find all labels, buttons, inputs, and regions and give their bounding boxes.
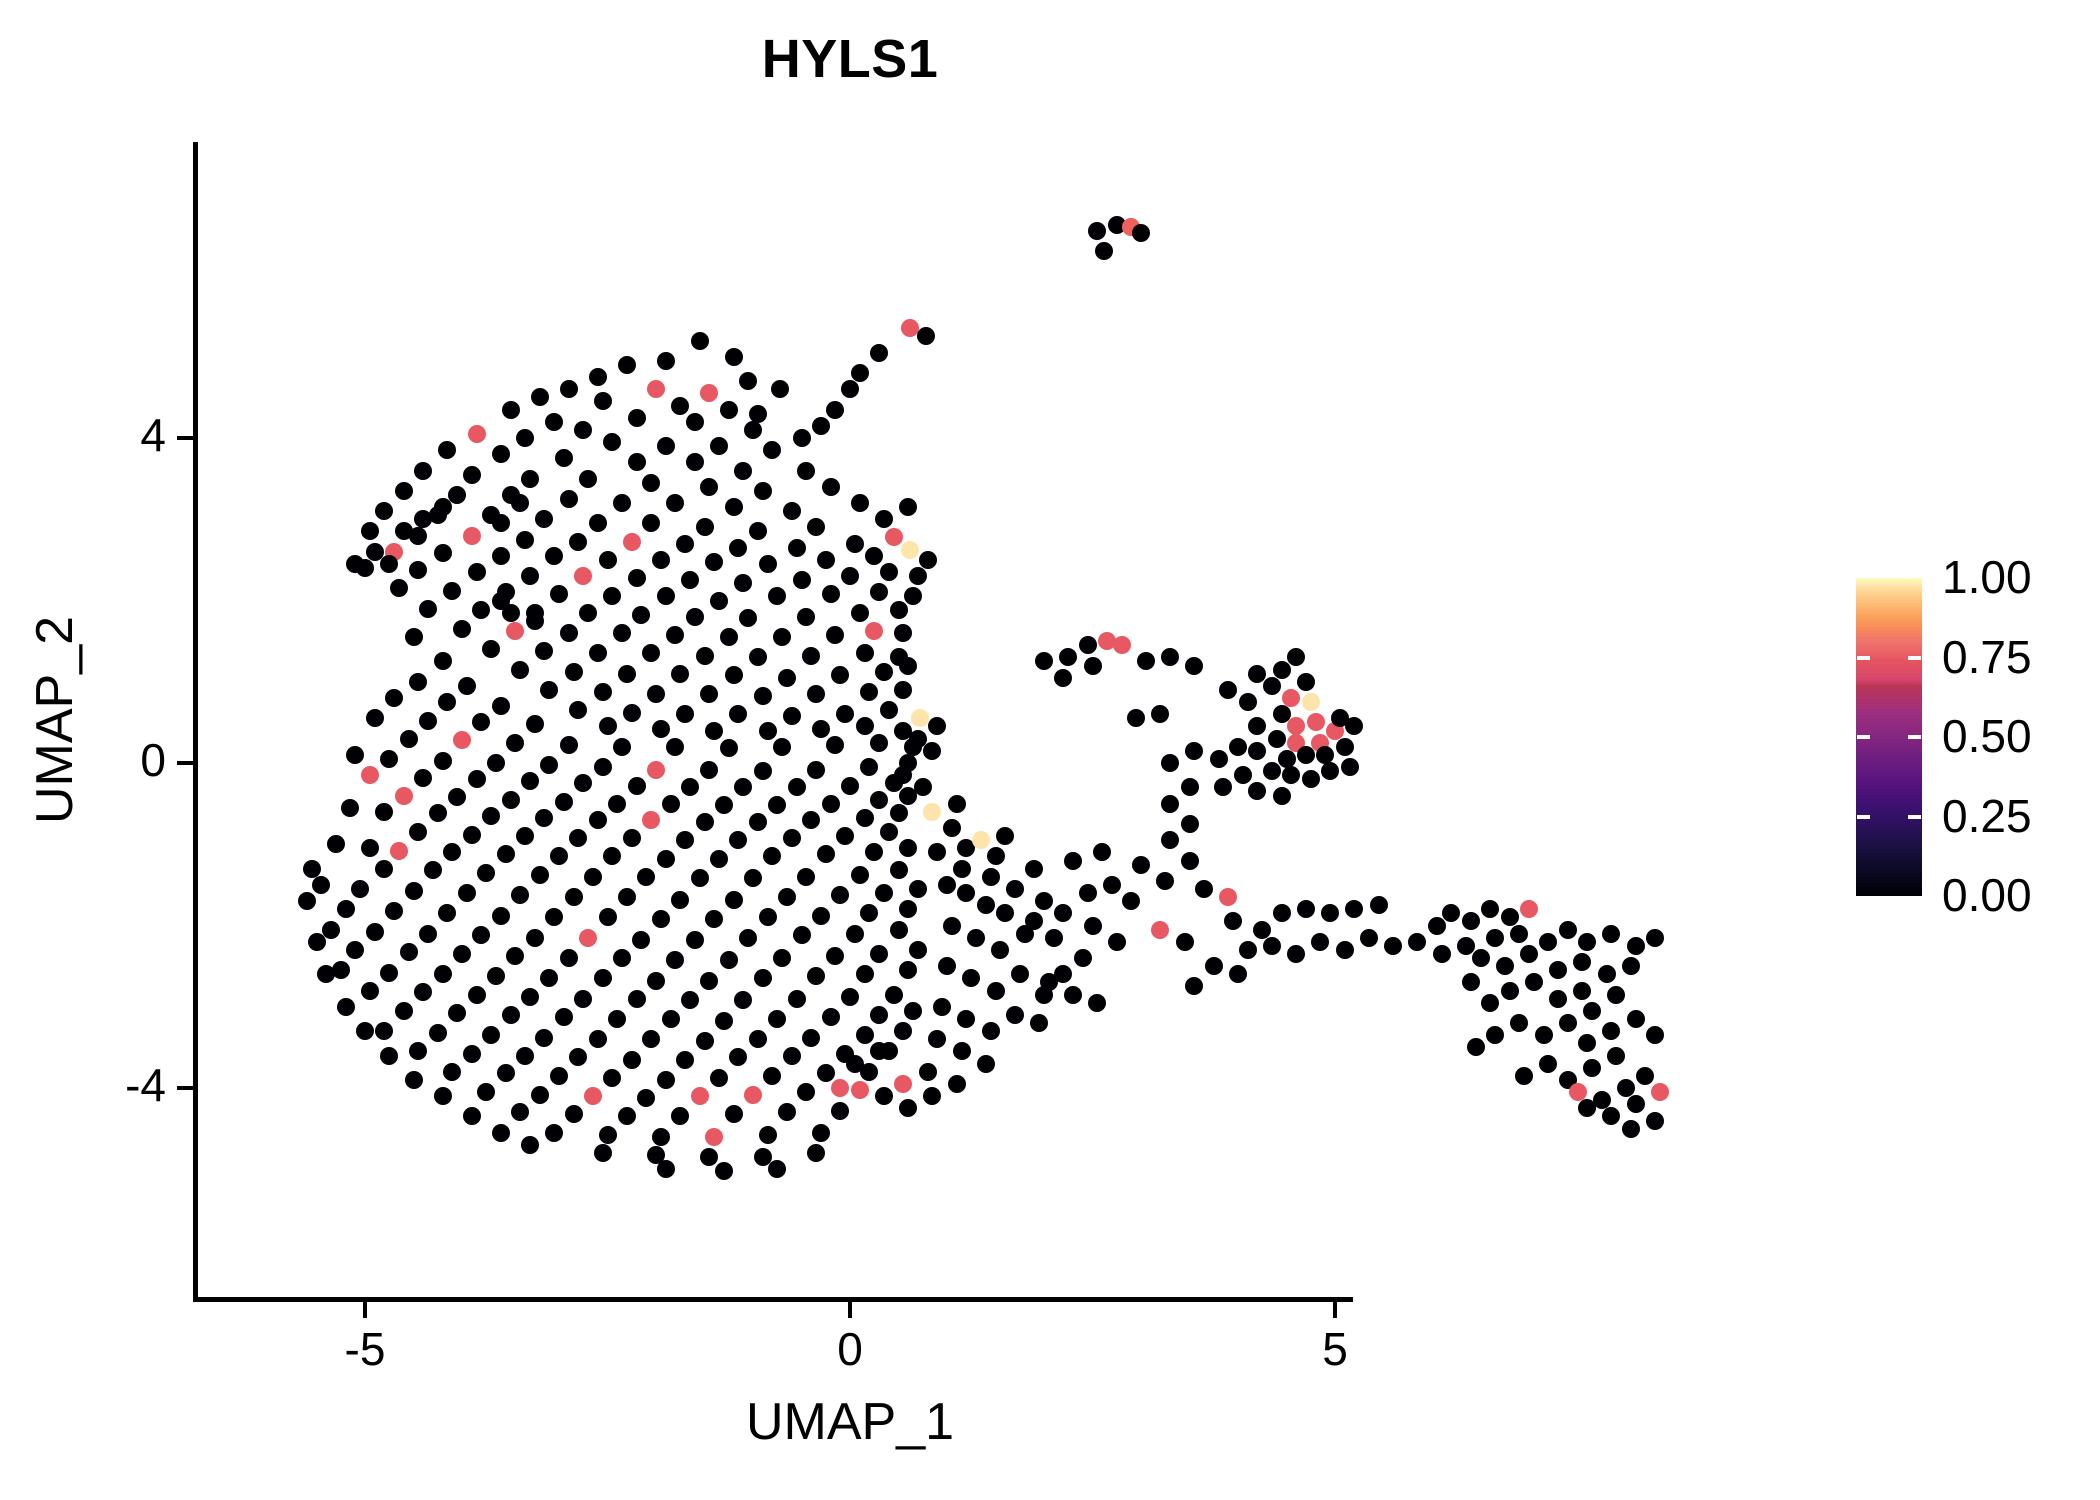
scatter-point: [555, 793, 573, 811]
scatter-point: [749, 813, 767, 831]
scatter-point: [1229, 965, 1247, 983]
scatter-point: [657, 1160, 675, 1178]
scatter-point: [540, 681, 558, 699]
scatter-point: [1282, 689, 1300, 707]
scatter-point: [555, 1008, 573, 1026]
scatter-point: [880, 823, 898, 841]
scatter-point: [647, 380, 665, 398]
scatter-point: [657, 352, 675, 370]
scatter-point: [535, 642, 553, 660]
scatter-point: [613, 949, 631, 967]
scatter-point: [1185, 977, 1203, 995]
scatter-point: [870, 1006, 888, 1024]
scatter-point: [492, 907, 510, 925]
scatter-point: [366, 923, 384, 941]
scatter-point: [468, 986, 486, 1004]
scatter-point: [1297, 900, 1315, 918]
scatter-point: [405, 1071, 423, 1089]
scatter-point: [594, 969, 612, 987]
scatter-point: [1035, 892, 1053, 910]
scatter-point: [526, 929, 544, 947]
scatter-point: [681, 571, 699, 589]
scatter-point: [1321, 762, 1339, 780]
scatter-point: [1578, 1034, 1596, 1052]
scatter-point: [982, 868, 1000, 886]
scatter-point: [720, 739, 738, 757]
scatter-point: [390, 842, 408, 860]
scatter-point: [414, 510, 432, 528]
scatter-point: [911, 709, 929, 727]
scatter-point: [628, 990, 646, 1008]
scatter-point: [637, 1089, 655, 1107]
scatter-point: [511, 494, 529, 512]
scatter-point: [696, 1032, 714, 1050]
scatter-point: [375, 803, 393, 821]
scatter-point: [919, 551, 937, 569]
scatter-point: [826, 947, 844, 965]
scatter-point: [856, 717, 874, 735]
scatter-point: [1622, 957, 1640, 975]
scatter-point: [826, 626, 844, 644]
colorbar-tick-mark: [1908, 815, 1921, 819]
scatter-point: [652, 1128, 670, 1146]
scatter-point: [773, 949, 791, 967]
scatter-point: [953, 1042, 971, 1060]
scatter-point: [841, 380, 859, 398]
scatter-point: [516, 827, 534, 845]
scatter-point: [1273, 904, 1291, 922]
scatter-point: [356, 1022, 374, 1040]
scatter-point: [856, 965, 874, 983]
scatter-point: [565, 888, 583, 906]
scatter-point: [1578, 1099, 1596, 1117]
scatter-point: [860, 683, 878, 701]
scatter-point: [540, 756, 558, 774]
scatter-point: [589, 644, 607, 662]
scatter-point: [516, 429, 534, 447]
scatter-point: [579, 470, 597, 488]
scatter-point: [759, 908, 777, 926]
y-axis-line: [193, 142, 198, 1302]
scatter-point: [535, 510, 553, 528]
scatter-point: [589, 368, 607, 386]
scatter-point: [987, 982, 1005, 1000]
scatter-point: [550, 847, 568, 865]
scatter-point: [1336, 941, 1354, 959]
scatter-point: [1549, 961, 1567, 979]
colorbar-tick-mark: [1857, 735, 1870, 739]
scatter-point: [802, 1029, 820, 1047]
scatter-point: [642, 1030, 660, 1048]
scatter-point: [1006, 880, 1024, 898]
scatter-point: [1093, 843, 1111, 861]
scatter-point: [1122, 892, 1140, 910]
scatter-point: [1336, 738, 1354, 756]
scatter-point: [909, 941, 927, 959]
scatter-point: [400, 943, 418, 961]
scatter-point: [1079, 884, 1097, 902]
scatter-point: [1408, 933, 1426, 951]
scatter-point: [710, 437, 728, 455]
scatter-point: [535, 1029, 553, 1047]
scatter-point: [497, 845, 515, 863]
scatter-point: [817, 1064, 835, 1082]
scatter-point: [647, 761, 665, 779]
scatter-point: [734, 462, 752, 480]
scatter-point: [909, 730, 927, 748]
scatter-point: [608, 1010, 626, 1028]
scatter-point: [516, 531, 534, 549]
scatter-point: [409, 1042, 427, 1060]
scatter-point: [569, 1048, 587, 1066]
scatter-point: [380, 964, 398, 982]
scatter-point: [647, 972, 665, 990]
scatter-point: [434, 544, 452, 562]
scatter-point: [1607, 1047, 1625, 1065]
scatter-point: [1496, 957, 1514, 975]
scatter-point: [337, 900, 355, 918]
scatter-point: [749, 648, 767, 666]
scatter-point: [565, 1105, 583, 1123]
scatter-point: [778, 669, 796, 687]
scatter-point: [618, 665, 636, 683]
scatter-point: [1248, 717, 1266, 735]
scatter-point: [710, 592, 728, 610]
scatter-point: [1583, 1002, 1601, 1020]
scatter-point: [1263, 762, 1281, 780]
scatter-point: [492, 547, 510, 565]
scatter-point: [793, 571, 811, 589]
scatter-point: [1486, 929, 1504, 947]
scatter-point: [759, 555, 777, 573]
scatter-point: [943, 917, 961, 935]
scatter-point: [933, 998, 951, 1016]
scatter-point: [865, 622, 883, 640]
scatter-point: [448, 486, 466, 504]
scatter-point: [463, 527, 481, 545]
scatter-point: [569, 533, 587, 551]
scatter-point: [375, 860, 393, 878]
scatter-point: [962, 969, 980, 987]
scatter-point: [1627, 1095, 1645, 1113]
scatter-point: [788, 778, 806, 796]
scatter-point: [487, 754, 505, 772]
scatter-point: [725, 1105, 743, 1123]
scatter-point: [526, 612, 544, 630]
scatter-point: [807, 1144, 825, 1162]
scatter-point: [438, 904, 456, 922]
scatter-point: [560, 490, 578, 508]
scatter-point: [720, 951, 738, 969]
scatter-point: [725, 891, 743, 909]
scatter-point: [938, 957, 956, 975]
scatter-point: [715, 1162, 733, 1180]
scatter-point: [385, 902, 403, 920]
scatter-point: [1040, 973, 1058, 991]
scatter-point: [1510, 925, 1528, 943]
scatter-point: [1345, 900, 1363, 918]
scatter-point: [632, 606, 650, 624]
scatter-point: [715, 796, 733, 814]
scatter-point: [1520, 945, 1538, 963]
scatter-point: [550, 1067, 568, 1085]
x-tick-mark: [848, 1302, 852, 1318]
scatter-point: [885, 528, 903, 546]
scatter-point: [429, 804, 447, 822]
scatter-point: [901, 541, 919, 559]
scatter-point: [831, 666, 849, 684]
x-tick-mark: [363, 1302, 367, 1318]
scatter-point: [749, 522, 767, 540]
x-tick-label: 0: [760, 1322, 940, 1376]
scatter-point: [676, 705, 694, 723]
scatter-point: [1151, 921, 1169, 939]
scatter-point: [628, 453, 646, 471]
scatter-point: [729, 539, 747, 557]
scatter-point: [414, 769, 432, 787]
scatter-point: [836, 827, 854, 845]
y-axis-label: UMAP_2: [25, 440, 85, 1000]
scatter-point: [793, 429, 811, 447]
scatter-point: [967, 929, 985, 947]
scatter-point: [599, 717, 617, 735]
scatter-point: [666, 626, 684, 644]
scatter-point: [613, 494, 631, 512]
scatter-point: [1501, 908, 1519, 926]
scatter-point: [623, 704, 641, 722]
scatter-point: [700, 478, 718, 496]
scatter-point: [686, 453, 704, 471]
scatter-point: [899, 961, 917, 979]
scatter-point: [778, 888, 796, 906]
scatter-point: [1525, 973, 1543, 991]
scatter-point: [361, 522, 379, 540]
scatter-point: [603, 433, 621, 451]
colorbar-tick-mark: [1857, 815, 1870, 819]
colorbar-tick-label: 0.75: [1942, 630, 2032, 684]
scatter-point: [676, 1051, 694, 1069]
scatter-point: [1181, 778, 1199, 796]
scatter-point: [438, 693, 456, 711]
scatter-point: [948, 1075, 966, 1093]
scatter-point: [1287, 945, 1305, 963]
scatter-point: [1598, 965, 1616, 983]
scatter-point: [749, 405, 767, 423]
scatter-point: [569, 701, 587, 719]
scatter-point: [652, 551, 670, 569]
scatter-point: [1297, 746, 1315, 764]
scatter-point: [754, 969, 772, 987]
scatter-point: [1510, 1014, 1528, 1032]
scatter-point: [700, 761, 718, 779]
scatter-point: [822, 478, 840, 496]
scatter-point: [1462, 912, 1480, 930]
scatter-point: [327, 835, 345, 853]
scatter-point: [1481, 994, 1499, 1012]
scatter-point: [468, 770, 486, 788]
scatter-point: [594, 758, 612, 776]
scatter-point: [1185, 657, 1203, 675]
scatter-point: [763, 441, 781, 459]
scatter-point: [574, 774, 592, 792]
scatter-point: [860, 758, 878, 776]
scatter-point: [938, 876, 956, 894]
scatter-point: [705, 1128, 723, 1146]
scatter-point: [1161, 754, 1179, 772]
scatter-point: [1370, 896, 1388, 914]
scatter-point: [739, 609, 757, 627]
scatter-point: [1054, 669, 1072, 687]
scatter-point: [662, 1010, 680, 1028]
scatter-point: [1583, 1059, 1601, 1077]
scatter-point: [773, 628, 791, 646]
scatter-point: [599, 908, 617, 926]
scatter-point: [899, 1099, 917, 1117]
scatter-point: [521, 567, 539, 585]
scatter-point: [1054, 904, 1072, 922]
scatter-point: [807, 967, 825, 985]
scatter-point: [375, 1022, 393, 1040]
scatter-point: [375, 502, 393, 520]
colorbar-tick-mark: [1908, 656, 1921, 660]
scatter-point: [502, 401, 520, 419]
scatter-point: [768, 1010, 786, 1028]
scatter-point: [594, 683, 612, 701]
scatter-point: [977, 896, 995, 914]
scatter-point: [521, 1136, 539, 1154]
scatter-point: [1486, 1026, 1504, 1044]
scatter-point: [623, 533, 641, 551]
scatter-point: [1253, 921, 1271, 939]
scatter-point: [894, 766, 912, 784]
scatter-point: [482, 640, 500, 658]
scatter-point: [812, 907, 830, 925]
scatter-point: [778, 1103, 796, 1121]
scatter-point: [870, 734, 888, 752]
scatter-point: [1263, 937, 1281, 955]
x-tick-label: 5: [1245, 1322, 1425, 1376]
scatter-point: [759, 722, 777, 740]
scatter-point: [1607, 986, 1625, 1004]
scatter-point: [812, 1124, 830, 1142]
scatter-point: [1646, 1112, 1664, 1130]
scatter-point: [453, 731, 471, 749]
scatter-point: [710, 850, 728, 868]
scatter-point: [502, 1006, 520, 1024]
scatter-point: [870, 945, 888, 963]
scatter-point: [691, 869, 709, 887]
scatter-point: [710, 1069, 728, 1087]
scatter-point: [991, 941, 1009, 959]
scatter-point: [443, 843, 461, 861]
scatter-point: [1103, 876, 1121, 894]
scatter-point: [831, 1079, 849, 1097]
scatter-point: [448, 788, 466, 806]
scatter-point: [725, 348, 743, 366]
scatter-point: [841, 567, 859, 585]
scatter-point: [463, 466, 481, 484]
scatter-point: [880, 701, 898, 719]
scatter-point: [1636, 1067, 1654, 1085]
colorbar-tick-mark: [1908, 735, 1921, 739]
scatter-point: [1433, 945, 1451, 963]
scatter-point: [671, 1107, 689, 1125]
scatter-point: [856, 644, 874, 662]
scatter-point: [477, 1083, 495, 1101]
scatter-point: [390, 579, 408, 597]
x-axis-line: [193, 1297, 1353, 1302]
scatter-point: [1084, 917, 1102, 935]
scatter-point: [1219, 681, 1237, 699]
scatter-point: [729, 705, 747, 723]
scatter-point: [434, 652, 452, 670]
scatter-point: [1627, 937, 1645, 955]
scatter-point: [957, 884, 975, 902]
scatter-point: [851, 604, 869, 622]
scatter-point: [1195, 880, 1213, 898]
scatter-point: [880, 563, 898, 581]
colorbar-legend: 1.000.750.500.250.00: [1856, 578, 2096, 898]
scatter-point: [1559, 921, 1577, 939]
scatter-point: [1132, 224, 1150, 242]
scatter-point: [700, 384, 718, 402]
scatter-point: [744, 1086, 762, 1104]
scatter-point: [763, 847, 781, 865]
scatter-point: [560, 624, 578, 642]
scatter-point: [351, 880, 369, 898]
scatter-point: [531, 1086, 549, 1104]
scatter-point: [409, 823, 427, 841]
scatter-point: [734, 991, 752, 1009]
scatter-point: [424, 861, 442, 879]
y-tick-mark: [177, 436, 193, 440]
scatter-point: [1311, 933, 1329, 951]
scatter-point: [1181, 852, 1199, 870]
scatter-point: [472, 926, 490, 944]
scatter-point: [899, 498, 917, 516]
scatter-point: [851, 494, 869, 512]
scatter-point: [899, 839, 917, 857]
colorbar-tick-label: 0.50: [1942, 709, 2032, 763]
scatter-point: [1025, 860, 1043, 878]
scatter-point: [666, 951, 684, 969]
scatter-point: [405, 628, 423, 646]
scatter-point: [948, 795, 966, 813]
scatter-point: [652, 910, 670, 928]
scatter-point: [1539, 1055, 1557, 1073]
scatter-point: [807, 761, 825, 779]
scatter-point: [826, 736, 844, 754]
scatter-point: [875, 510, 893, 528]
scatter-point: [739, 929, 757, 947]
scatter-point: [982, 1022, 1000, 1040]
scatter-point: [1539, 933, 1557, 951]
scatter-point: [923, 742, 941, 760]
scatter-point: [1088, 994, 1106, 1012]
scatter-points-layer: [196, 142, 1816, 1300]
scatter-point: [366, 709, 384, 727]
scatter-point: [686, 608, 704, 626]
scatter-point: [419, 925, 437, 943]
scatter-point: [686, 413, 704, 431]
scatter-point: [603, 847, 621, 865]
scatter-point: [511, 886, 529, 904]
scatter-point: [1646, 1026, 1664, 1044]
scatter-point: [797, 608, 815, 626]
scatter-point: [943, 819, 961, 837]
scatter-point: [303, 860, 321, 878]
scatter-point: [1239, 693, 1257, 711]
